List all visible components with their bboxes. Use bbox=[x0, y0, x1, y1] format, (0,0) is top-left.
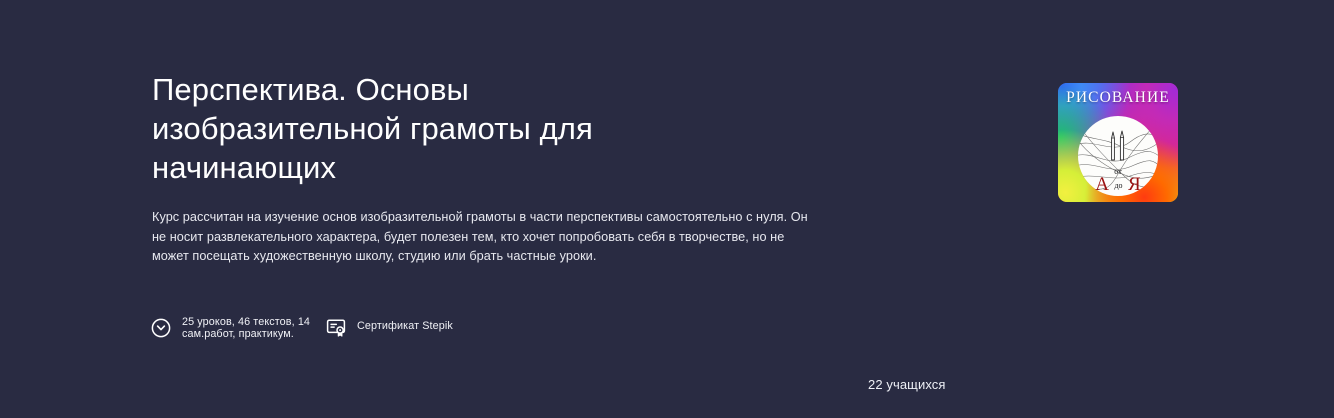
course-thumbnail[interactable]: РИСОВАНИЕ bbox=[1058, 83, 1178, 202]
thumbnail-letter-from: А bbox=[1095, 174, 1109, 195]
course-description: Курс рассчитан на изучение основ изобраз… bbox=[152, 208, 814, 267]
course-meta-row: 25 уроков, 46 текстов, 14 сам.работ, пра… bbox=[150, 316, 453, 340]
meta-item-certificate: Сертификат Stepik bbox=[325, 316, 453, 338]
page-title: Перспектива. Основы изобразительной грам… bbox=[152, 70, 712, 187]
thumbnail-word-to: до bbox=[1114, 182, 1122, 190]
meta-item-lessons: 25 уроков, 46 текстов, 14 сам.работ, пра… bbox=[150, 316, 328, 340]
certificate-icon bbox=[325, 316, 347, 338]
thumbnail-letter-to: Я bbox=[1128, 174, 1141, 195]
clock-icon bbox=[150, 317, 172, 339]
learners-count: 22 учащихся bbox=[868, 377, 946, 393]
meta-item-lessons-label: 25 уроков, 46 текстов, 14 сам.работ, пра… bbox=[182, 316, 328, 340]
meta-item-certificate-label: Сертификат Stepik bbox=[357, 320, 453, 333]
course-card: Перспектива. Основы изобразительной грам… bbox=[0, 0, 1334, 418]
thumbnail-heading: РИСОВАНИЕ bbox=[1058, 89, 1178, 107]
thumbnail-az-line: АдоЯ bbox=[1058, 175, 1178, 194]
